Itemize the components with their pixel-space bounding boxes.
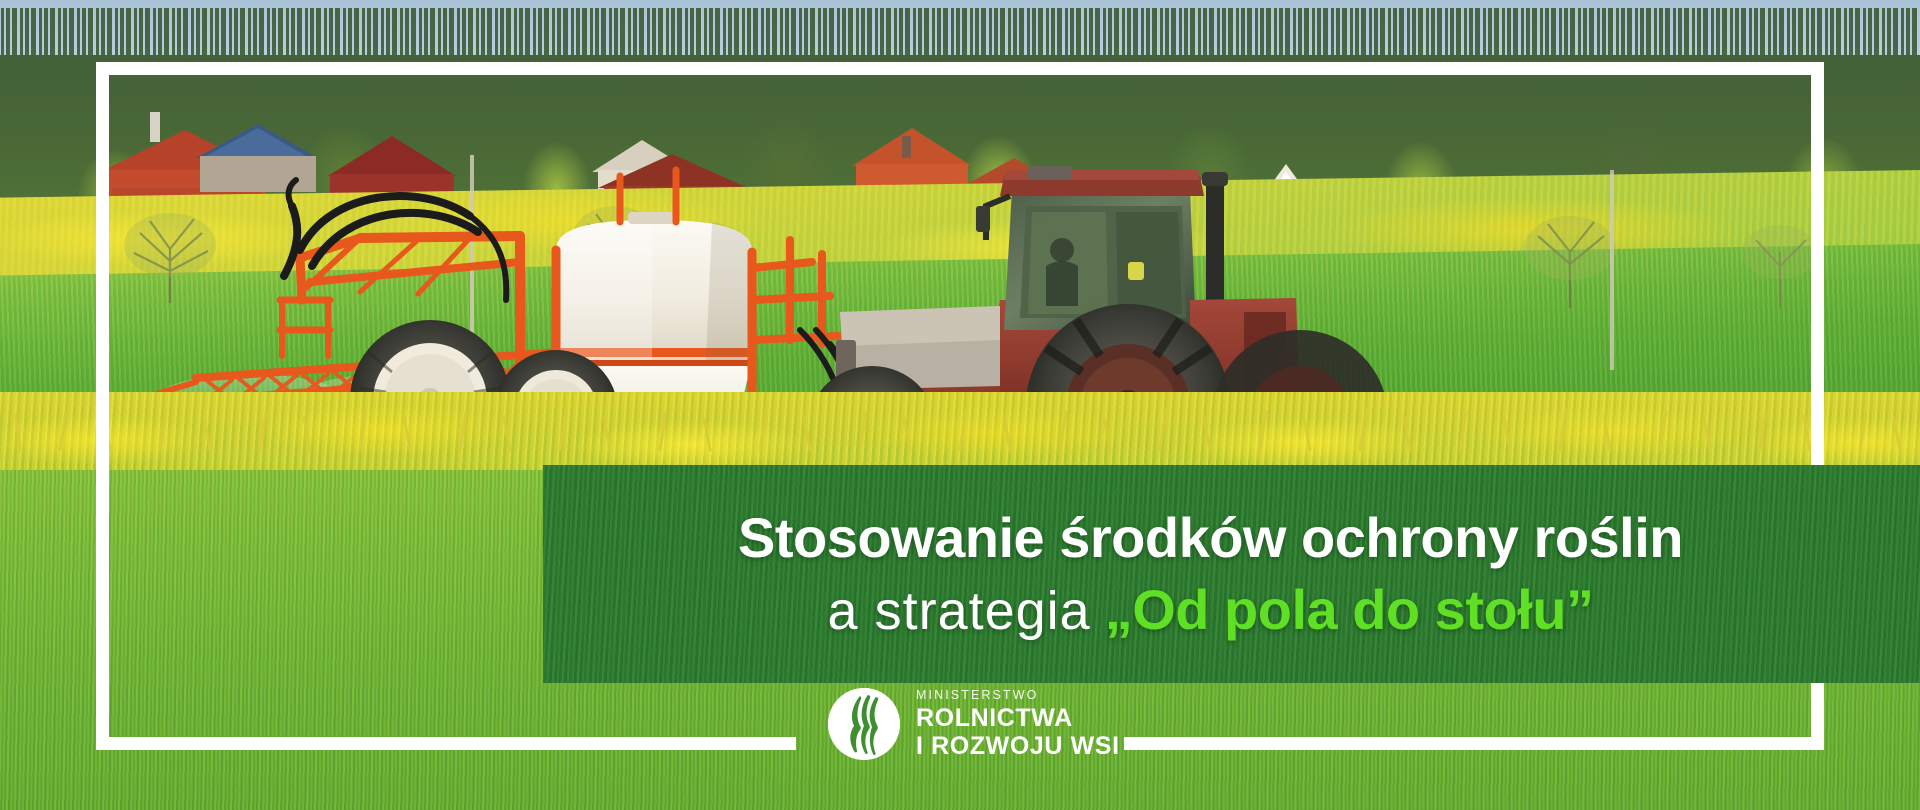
rapeseed-tufts [0, 382, 1920, 452]
ministry-logo: MINISTERSTWO ROLNICTWA I ROZWOJU WSI [828, 688, 1120, 760]
poster-canvas: Stosowanie środków ochrony roślin a stra… [0, 0, 1920, 810]
ministry-logo-text: MINISTERSTWO ROLNICTWA I ROZWOJU WSI [916, 688, 1120, 760]
wheat-ear-glyph [828, 688, 900, 760]
title-line-2: a strategia„Od pola do stołu” [597, 580, 1824, 640]
title-line-2-accent: „Od pola do stołu” [1105, 578, 1594, 641]
title-banner: Stosowanie środków ochrony roślin a stra… [543, 465, 1920, 683]
ministry-line-3: I ROZWOJU WSI [916, 732, 1120, 760]
wheat-ear-emblem-icon [828, 688, 900, 760]
title-line-2-light: a strategia [828, 581, 1091, 641]
frame-bottom-left-segment [96, 737, 796, 750]
ministry-line-2: ROLNICTWA [916, 704, 1120, 732]
ministry-line-1: MINISTERSTWO [916, 688, 1120, 704]
frame-bottom-right-segment [1124, 737, 1824, 750]
title-line-1: Stosowanie środków ochrony roślin [597, 508, 1824, 567]
